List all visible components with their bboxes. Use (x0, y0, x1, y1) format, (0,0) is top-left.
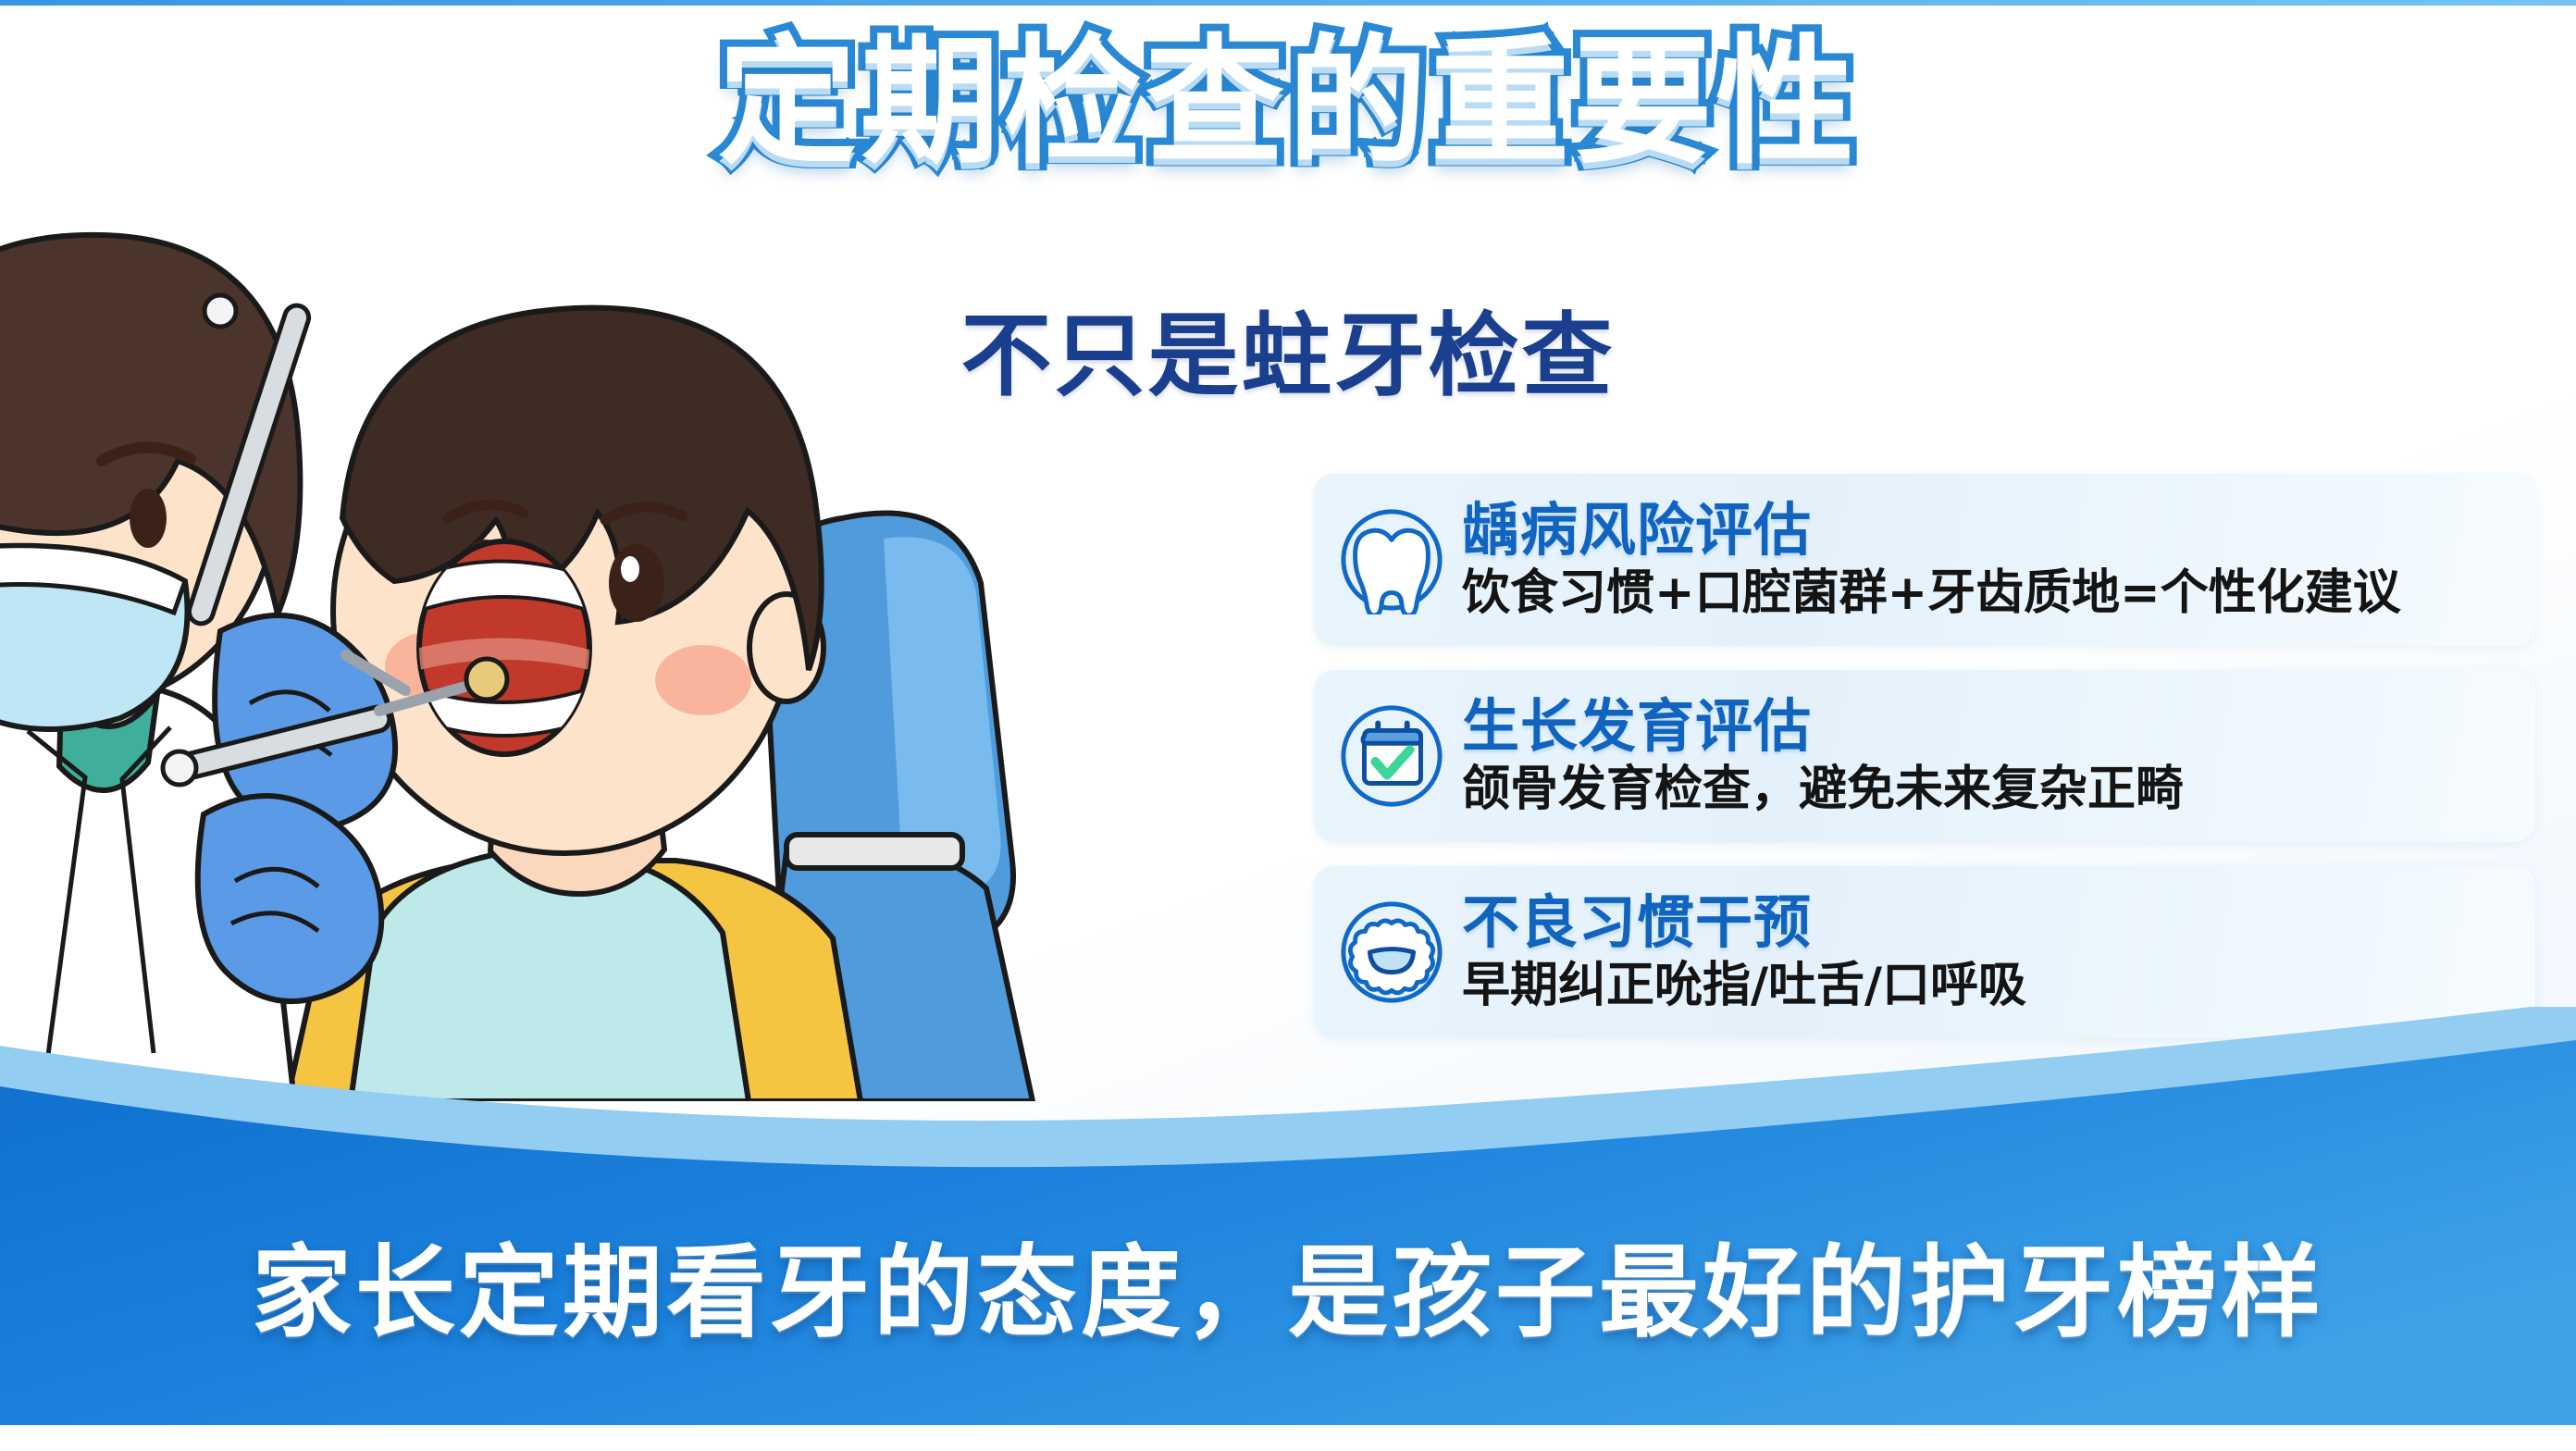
card-text-block: 龋病风险评估 饮食习惯+口腔菌群+牙齿质地=个性化建议 (1449, 500, 2416, 619)
card-description: 颌骨发育检查，避免未来复杂正畸 (1462, 763, 2184, 815)
dentist-eye (130, 489, 167, 548)
card-text-block: 不良习惯干预 早期纠正吮指/吐舌/口呼吸 (1449, 892, 2041, 1011)
card-description: 饮食习惯+口腔菌群+牙齿质地=个性化建议 (1462, 567, 2401, 619)
feature-card-growth-assessment[interactable]: 生长发育评估 颌骨发育检查，避免未来复杂正畸 (1314, 670, 2535, 842)
feature-card-caries-risk[interactable]: 龋病风险评估 饮食习惯+口腔菌群+牙齿质地=个性化建议 (1314, 474, 2535, 646)
poster-stage: 定期检查的重要性 不只是蛀牙检查 (0, 0, 2576, 1451)
dental-checkup-illustration (0, 213, 1231, 1101)
page-title: 定期检查的重要性 (718, 28, 1858, 178)
feature-card-list: 龋病风险评估 饮食习惯+口腔菌群+牙齿质地=个性化建议 生长发育评估 颌骨发育检… (1314, 474, 2535, 1062)
title-block: 定期检查的重要性 (0, 28, 2576, 178)
card-title: 龋病风险评估 (1462, 500, 2401, 560)
card-text-block: 生长发育评估 颌骨发育检查，避免未来复杂正畸 (1449, 696, 2198, 815)
mouth-molar-icon (1334, 895, 1449, 1010)
chair-strap (786, 835, 962, 868)
child-eye-right-glint (621, 556, 639, 582)
calendar-check-icon (1334, 699, 1449, 813)
banner-bottom-strip (0, 1425, 2576, 1451)
card-title: 生长发育评估 (1462, 696, 2184, 756)
child-cheek-right (655, 645, 751, 715)
card-description: 早期纠正吮指/吐舌/口呼吸 (1462, 960, 2026, 1011)
child-eye-right (609, 544, 664, 622)
bottom-banner: 家长定期看牙的态度，是孩子最好的护牙榜样 (0, 1007, 2576, 1451)
dentist-glove-lower (198, 796, 382, 1001)
top-accent-rule (0, 0, 2576, 6)
card-title: 不良习惯干预 (1462, 892, 2026, 952)
child-teeth-group (419, 561, 589, 736)
banner-slogan: 家长定期看牙的态度，是孩子最好的护牙榜样 (0, 1212, 2576, 1357)
tooth-icon (1334, 502, 1449, 617)
